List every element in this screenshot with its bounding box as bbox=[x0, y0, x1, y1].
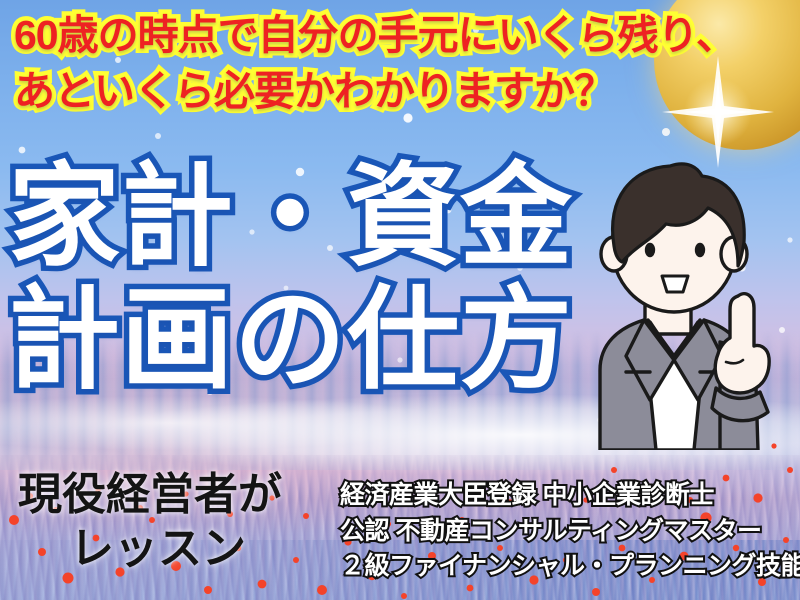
credential-line-3: ２級ファイナンシャル・プランニング技能士 bbox=[340, 549, 800, 585]
poster-canvas: 60歳の時点で自分の手元にいくら残り、 あといくら必要かわかりますか？ 家計・資… bbox=[0, 0, 800, 600]
main-title: 家計・資金 計画の仕方 bbox=[8, 155, 648, 401]
credential-line-1: 経済産業大臣登録 中小企業診断士 bbox=[340, 478, 800, 514]
headline-line-2: あといくら必要かわかりますか？ bbox=[14, 64, 674, 120]
credential-line-2: 公認 不動産コンサルティングマスター bbox=[340, 514, 800, 550]
main-title-line-2: 計画の仕方 bbox=[8, 278, 648, 401]
presenter-line-1: 現役経営者が bbox=[18, 468, 338, 522]
presenter-line-2: レッスン bbox=[18, 522, 338, 576]
main-title-line-1: 家計・資金 bbox=[8, 155, 648, 278]
presenter-text: 現役経営者が レッスン bbox=[18, 468, 338, 575]
headline-text: 60歳の時点で自分の手元にいくら残り、 あといくら必要かわかりますか？ bbox=[14, 8, 674, 120]
credentials-text: 経済産業大臣登録 中小企業診断士 公認 不動産コンサルティングマスター ２級ファ… bbox=[340, 478, 800, 585]
businessman-pointing-up-illustration bbox=[570, 150, 800, 450]
headline-line-1: 60歳の時点で自分の手元にいくら残り、 bbox=[14, 8, 674, 64]
